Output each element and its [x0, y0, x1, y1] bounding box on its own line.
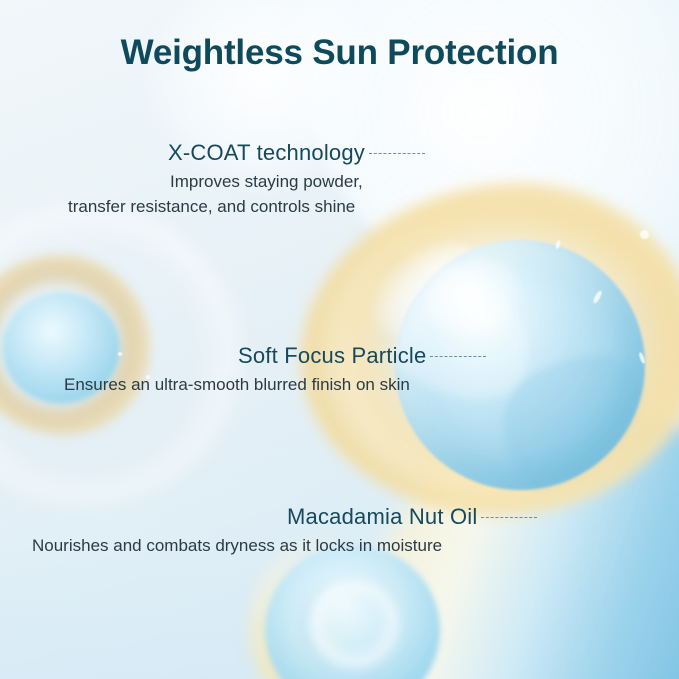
feature-heading-label: Macadamia Nut Oil: [287, 504, 477, 530]
feature-heading-label: X-COAT technology: [168, 140, 365, 166]
feature-heading-row: Soft Focus Particle: [238, 343, 679, 369]
oil-crescent-highlight: [356, 229, 500, 356]
dashed-leader-line: [430, 356, 486, 357]
droplet-icon: [640, 230, 649, 239]
droplet-icon: [592, 290, 603, 305]
feature-soft-focus-particle: Soft Focus Particle Ensures an ultra-smo…: [0, 343, 679, 397]
bottom-bubble-rim: [300, 575, 405, 675]
feature-macadamia-nut-oil: Macadamia Nut Oil Nourishes and combats …: [0, 504, 679, 558]
feature-description-line: Improves staying powder,: [170, 170, 679, 194]
feature-description-line: Nourishes and combats dryness as it lock…: [32, 534, 679, 558]
feature-heading-label: Soft Focus Particle: [238, 343, 426, 369]
background-gradient: [0, 0, 679, 679]
feature-heading-row: Macadamia Nut Oil: [287, 504, 679, 530]
dashed-leader-line: [369, 153, 425, 154]
product-feature-poster: Weightless Sun Protection X-COAT technol…: [0, 0, 679, 679]
dashed-leader-line: [481, 517, 537, 518]
sphere-gloss-highlight: [415, 247, 529, 347]
droplet-icon: [555, 240, 561, 250]
feature-x-coat-technology: X-COAT technology Improves staying powde…: [0, 140, 679, 219]
page-title: Weightless Sun Protection: [0, 33, 679, 73]
feature-heading-row: X-COAT technology: [168, 140, 679, 166]
bottom-blue-bubble: [265, 545, 440, 679]
feature-description-line: Ensures an ultra-smooth blurred finish o…: [64, 373, 679, 397]
feature-description-line: transfer resistance, and controls shine: [68, 195, 679, 219]
